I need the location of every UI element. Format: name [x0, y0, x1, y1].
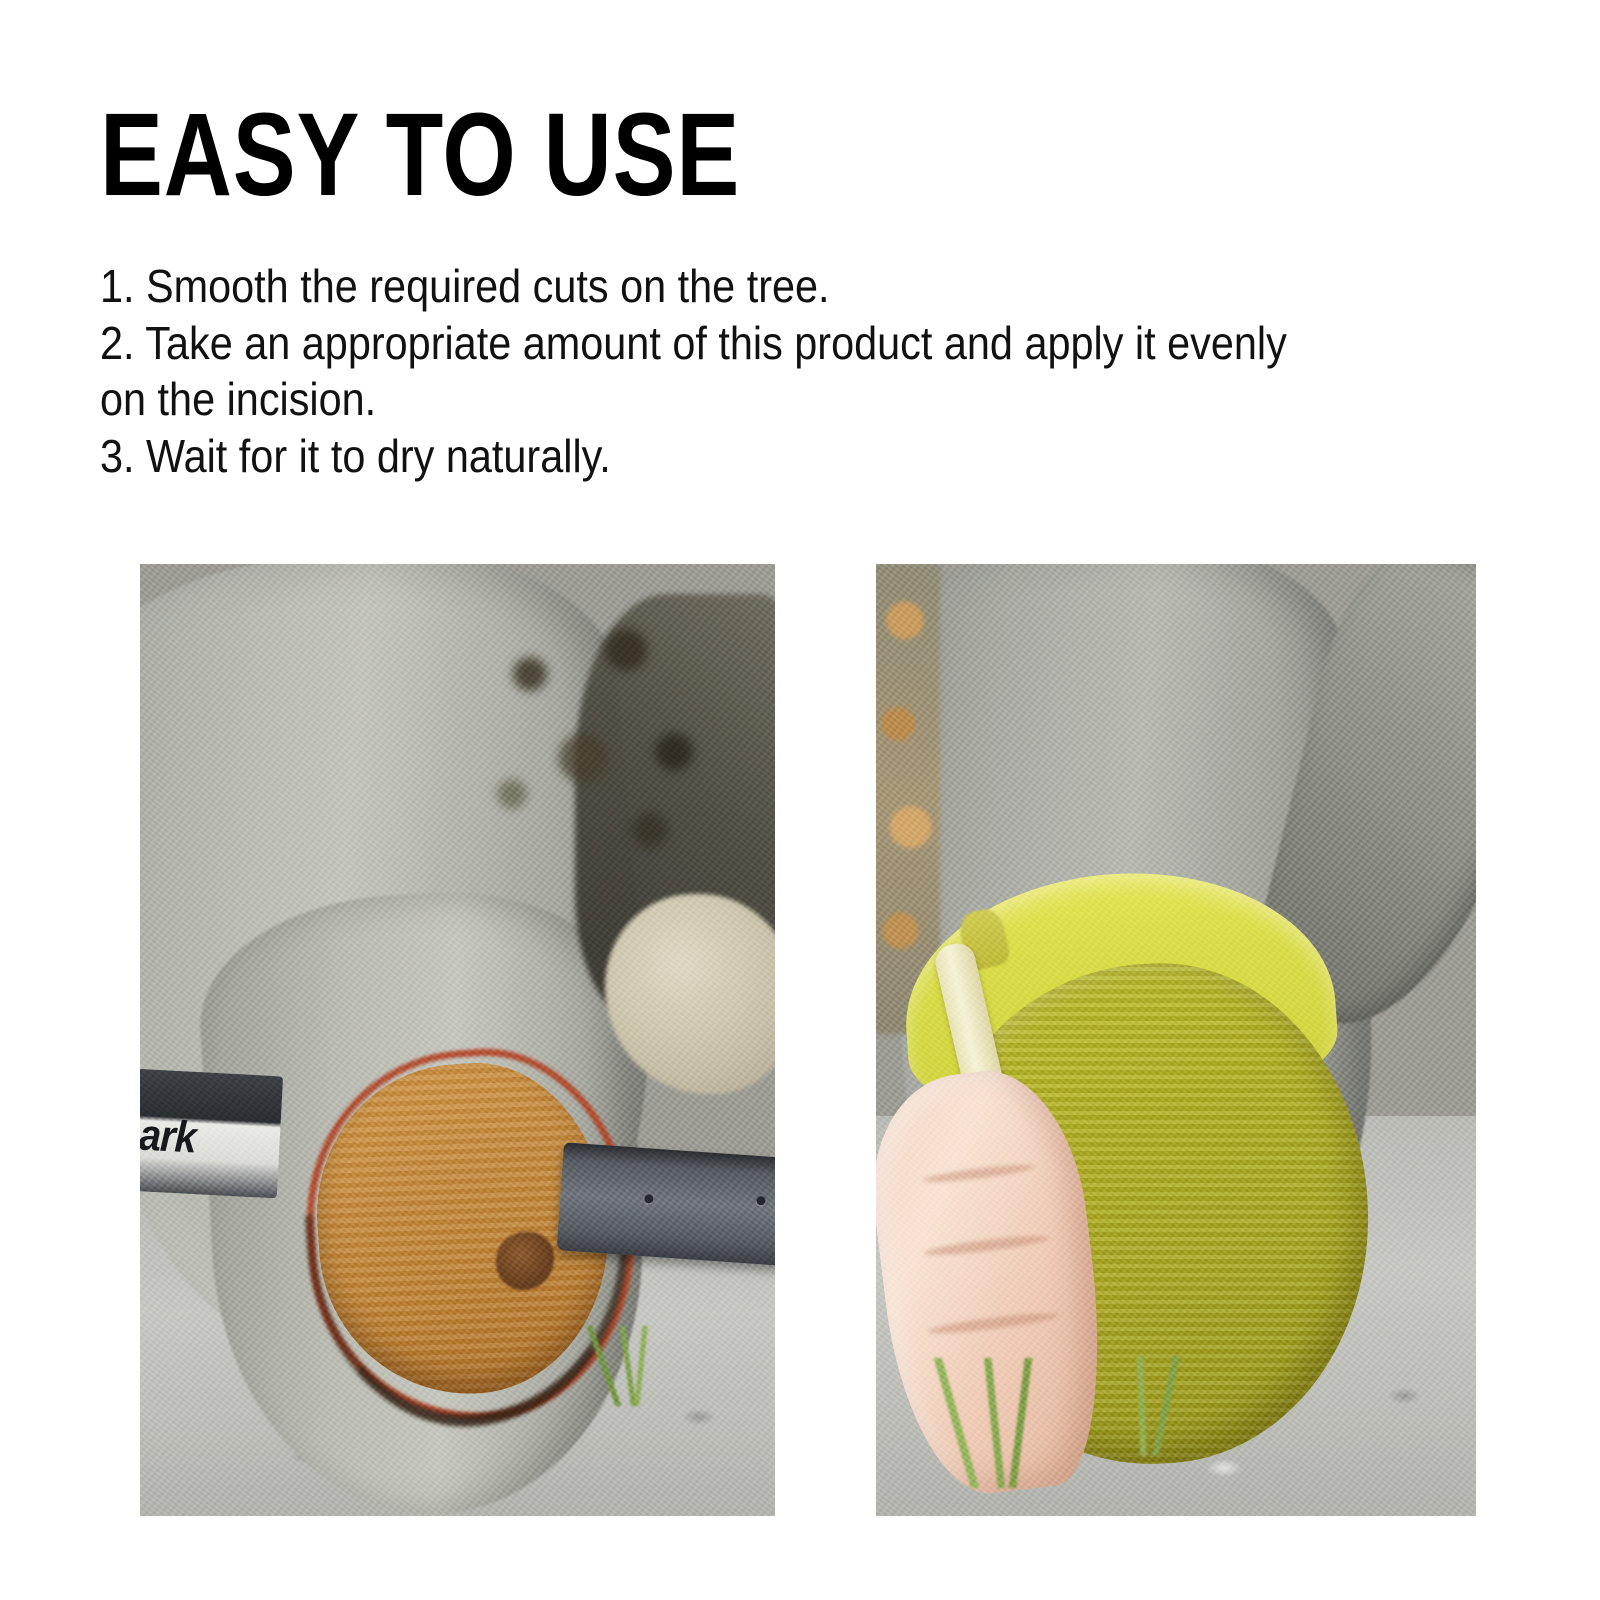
- instruction-page: EASY TO USE 1. Smooth the required cuts …: [0, 0, 1600, 1600]
- photo-grain-overlay: [876, 564, 1476, 1516]
- photo-grain-overlay: [140, 564, 775, 1516]
- figure-chainsaw-cut: ark: [140, 564, 775, 1516]
- figure-sealant-application: [876, 564, 1476, 1516]
- page-title: EASY TO USE: [100, 96, 740, 214]
- instruction-step-3: 3. Wait for it to dry naturally.: [100, 428, 1324, 484]
- instruction-step-1: 1. Smooth the required cuts on the tree.: [100, 258, 1324, 314]
- instruction-step-2: 2. Take an appropriate amount of this pr…: [100, 315, 1324, 427]
- instruction-steps-list: 1. Smooth the required cuts on the tree.…: [100, 258, 1460, 485]
